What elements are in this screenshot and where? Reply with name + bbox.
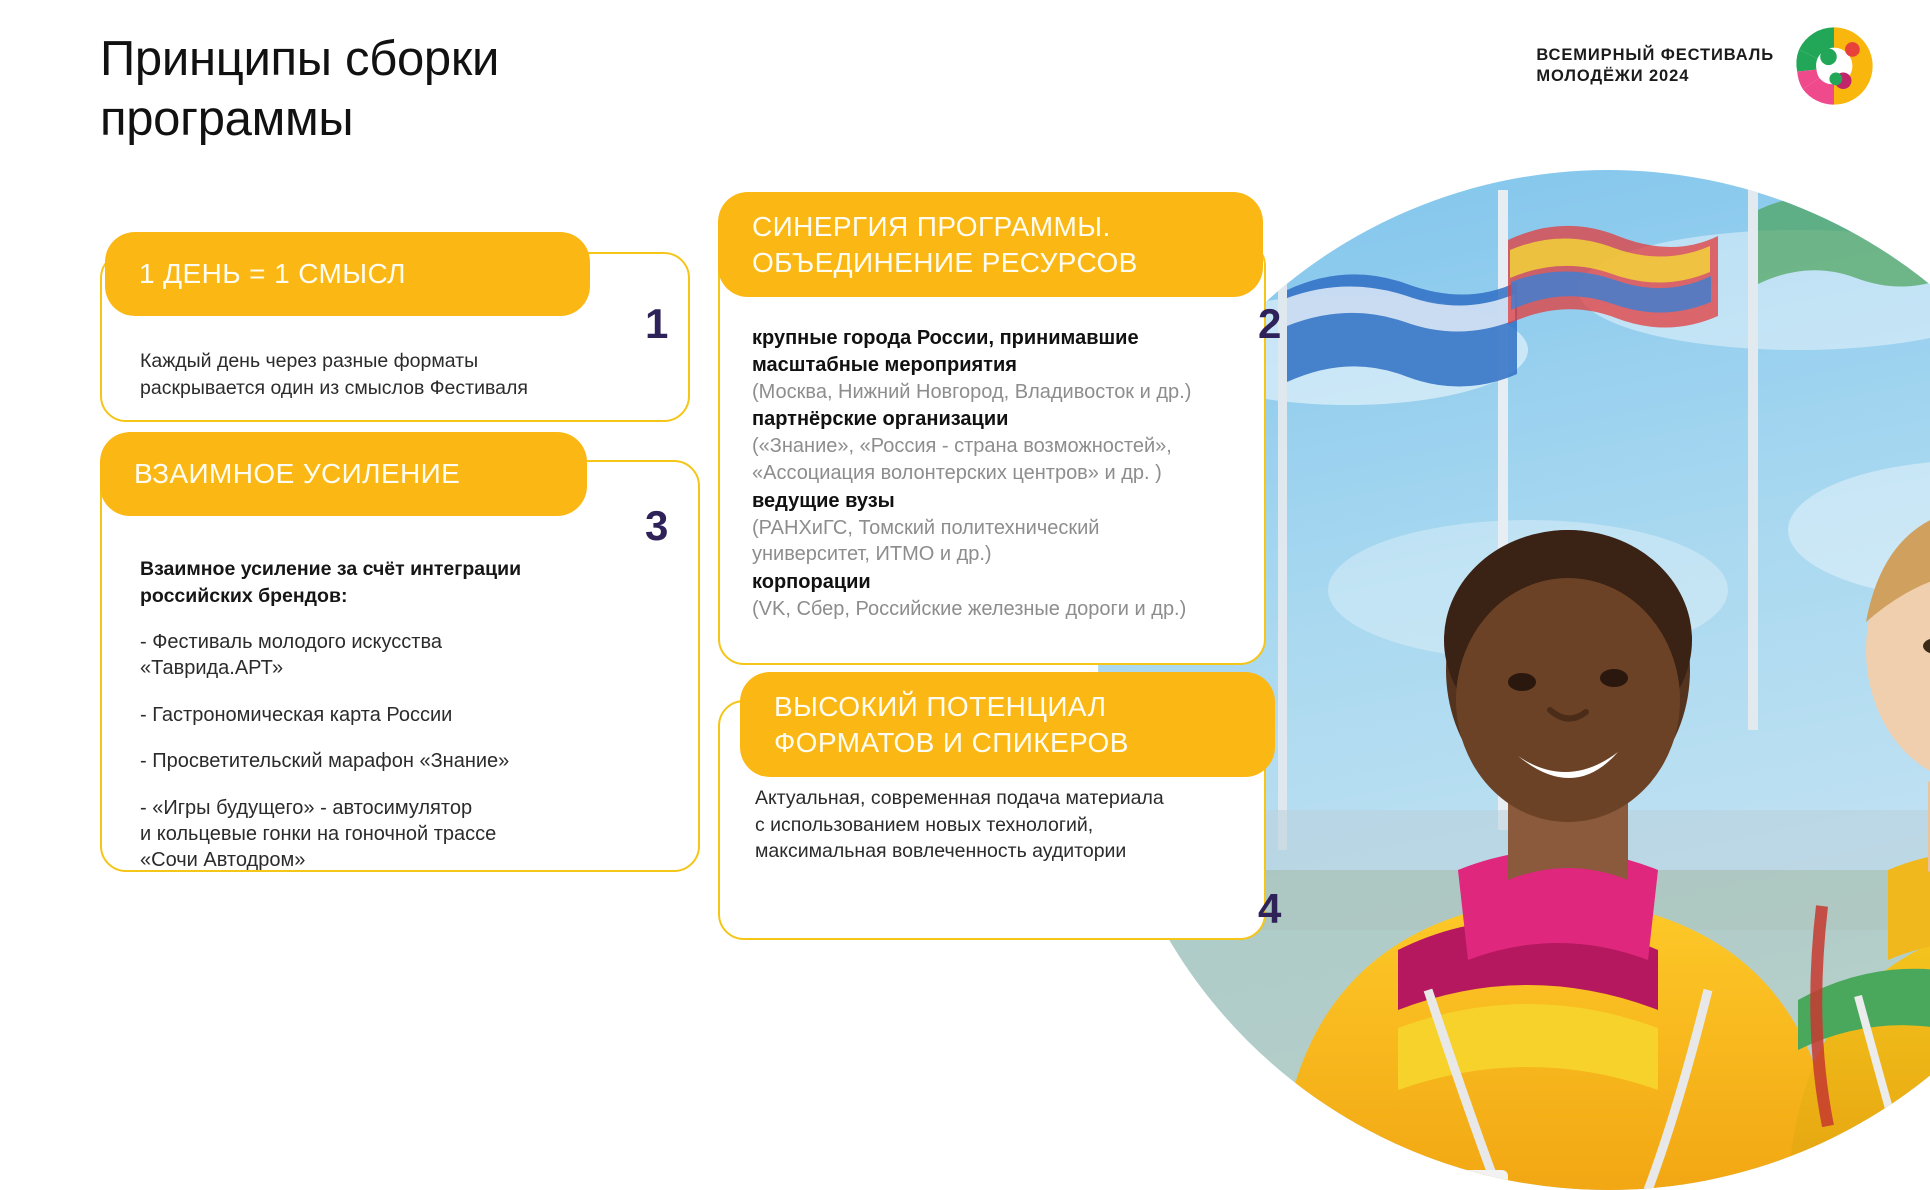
card-2-header[interactable]: СИНЕРГИЯ ПРОГРАММЫ. ОБЪЕДИНЕНИЕ РЕСУРСОВ <box>718 192 1263 297</box>
resource-term-1: крупные города России, принимавшие масшт… <box>752 325 1272 379</box>
resource-term-3: ведущие вузы <box>752 488 1272 515</box>
festival-circle-logo-icon <box>1788 20 1880 112</box>
card-1-body: Каждый день через разные форматы раскрыв… <box>140 348 640 401</box>
card-1-number: 1 <box>645 300 668 348</box>
card-2-body: крупные города России, принимавшие масшт… <box>752 325 1272 624</box>
card-3-bullet-3: - Просветительский марафон «Знание» <box>140 748 610 774</box>
festival-logo: ВСЕМИРНЫЙ ФЕСТИВАЛЬ МОЛОДЁЖИ 2024 <box>1536 20 1880 112</box>
card-1-header[interactable]: 1 ДЕНЬ = 1 СМЫСЛ <box>105 232 590 316</box>
resource-detail-3: (РАНХиГС, Томский политехнический универ… <box>752 515 1272 569</box>
card-3-body: Взаимное усиление за счёт интеграции рос… <box>140 556 610 874</box>
page-title: Принципы сборки программы <box>100 30 740 150</box>
resource-item-1: крупные города России, принимавшие масшт… <box>752 325 1272 405</box>
festival-logo-text: ВСЕМИРНЫЙ ФЕСТИВАЛЬ МОЛОДЁЖИ 2024 <box>1536 45 1774 86</box>
card-3-bullet-2: - Гастрономическая карта России <box>140 702 610 728</box>
card-4-body: Актуальная, современная подача материала… <box>755 785 1255 865</box>
card-4-number: 4 <box>1258 885 1281 933</box>
card-4-text: Актуальная, современная подача материала… <box>755 785 1255 865</box>
card-3-number: 3 <box>645 502 668 550</box>
resource-item-4: корпорации (VK, Сбер, Российские железны… <box>752 569 1272 623</box>
card-1-text: Каждый день через разные форматы раскрыв… <box>140 348 640 401</box>
resource-detail-1: (Москва, Нижний Новгород, Владивосток и … <box>752 379 1272 406</box>
card-3-intro: Взаимное усиление за счёт интеграции рос… <box>140 556 610 609</box>
card-4-header[interactable]: ВЫСОКИЙ ПОТЕНЦИАЛ ФОРМАТОВ И СПИКЕРОВ <box>740 672 1275 777</box>
resource-detail-2: («Знание», «Россия - страна возможностей… <box>752 433 1272 487</box>
resource-term-4: корпорации <box>752 569 1272 596</box>
card-3-header[interactable]: ВЗАИМНОЕ УСИЛЕНИЕ <box>100 432 587 516</box>
card-3-bullet-4: - «Игры будущего» - автосимулятор и коль… <box>140 795 610 874</box>
resource-item-3: ведущие вузы (РАНХиГС, Томский политехни… <box>752 488 1272 568</box>
resource-item-2: партнёрские организации («Знание», «Росс… <box>752 406 1272 486</box>
card-3-bullet-1: - Фестиваль молодого искусства «Таврида.… <box>140 629 610 682</box>
card-2-number: 2 <box>1258 300 1281 348</box>
slide-root: Принципы сборки программы ВСЕМИРНЫЙ ФЕСТ… <box>0 0 1930 1000</box>
resource-term-2: партнёрские организации <box>752 406 1272 433</box>
resource-detail-4: (VK, Сбер, Российские железные дороги и … <box>752 596 1272 623</box>
